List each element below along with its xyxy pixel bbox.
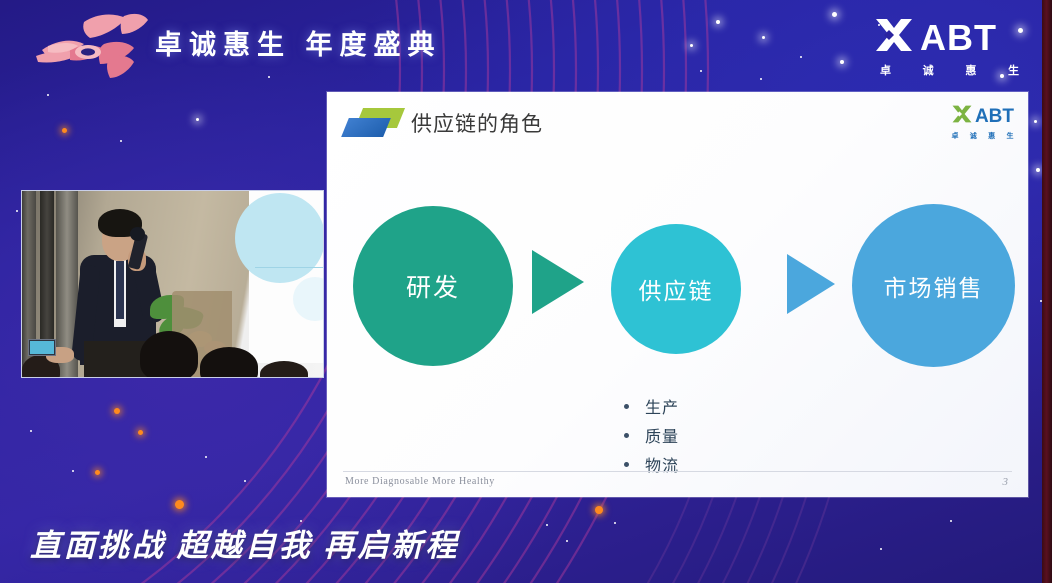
event-2021-calligraphy-logo — [26, 6, 154, 82]
flow-node-sales: 市场销售 — [852, 204, 1015, 367]
video-audience-phone — [28, 339, 56, 356]
list-item: 生产 — [624, 394, 679, 418]
abt-sub-char-1: 卓 — [880, 62, 892, 78]
abt-brand-subtitle: 卓 诚 惠 生 — [880, 62, 1020, 78]
abt-wordmark: ABT — [920, 20, 997, 56]
slide-abt-sub-3: 惠 — [988, 131, 995, 141]
supply-chain-flow-diagram: 研发 供应链 市场销售 — [327, 202, 1028, 397]
arrow-rnd-to-supplychain — [532, 250, 584, 314]
slide-abt-sub-4: 生 — [1006, 131, 1013, 141]
broadcast-stage: 卓诚惠生 年度盛典 ABT 卓 诚 惠 生 — [0, 0, 1052, 583]
presentation-slide: 供应链的角色 ABT 卓 诚 惠 生 研发 供应链 — [327, 92, 1028, 497]
footer-tagline: More Diagnosable More Healthy — [345, 476, 495, 487]
slide-abt-sub-1: 卓 — [951, 131, 958, 141]
abt-brand-logo: ABT 卓 诚 惠 生 — [874, 16, 1024, 74]
video-audience-head-1 — [140, 331, 198, 378]
abt-sub-char-2: 诚 — [923, 62, 935, 78]
event-slogan: 直面挑战 超越自我 再启新程 — [30, 520, 460, 565]
bullet-dot-icon — [624, 433, 629, 438]
abt-sub-char-4: 生 — [1008, 62, 1020, 78]
abt-x-icon — [951, 104, 973, 129]
footer-divider — [343, 471, 1012, 472]
event-header: 卓诚惠生 年度盛典 ABT 卓 诚 惠 生 — [0, 0, 1052, 92]
slide-abt-wordmark: ABT — [975, 107, 1014, 126]
bullet-dot-icon — [624, 404, 629, 409]
video-projection-screen — [249, 191, 323, 363]
abt-x-icon — [874, 16, 914, 59]
flow-node-supplychain: 供应链 — [611, 224, 741, 354]
slide-bullet-list: 生产 质量 物流 — [624, 394, 679, 481]
flow-node-rnd: 研发 — [353, 206, 513, 366]
abt-sub-char-3: 惠 — [965, 62, 977, 78]
list-item: 质量 — [624, 423, 679, 447]
slide-title-row: 供应链的角色 — [345, 108, 543, 138]
page-title: 卓诚惠生 年度盛典 — [155, 23, 442, 62]
slide-abt-logo: ABT 卓 诚 惠 生 — [951, 104, 1014, 141]
slide-title: 供应链的角色 — [411, 108, 543, 138]
slide-page-number: 3 — [1003, 476, 1009, 488]
live-speaker-video[interactable] — [21, 190, 324, 378]
parallelogram-mark-icon — [345, 108, 401, 138]
slide-abt-subtitle: 卓 诚 惠 生 — [951, 131, 1013, 141]
bullet-dot-icon — [624, 462, 629, 467]
slide-footer: More Diagnosable More Healthy 3 — [327, 471, 1028, 497]
bullet-label: 生产 — [645, 394, 679, 418]
arrow-supplychain-to-sales — [787, 254, 835, 314]
bullet-label: 质量 — [645, 423, 679, 447]
slide-abt-sub-2: 诚 — [970, 131, 977, 141]
